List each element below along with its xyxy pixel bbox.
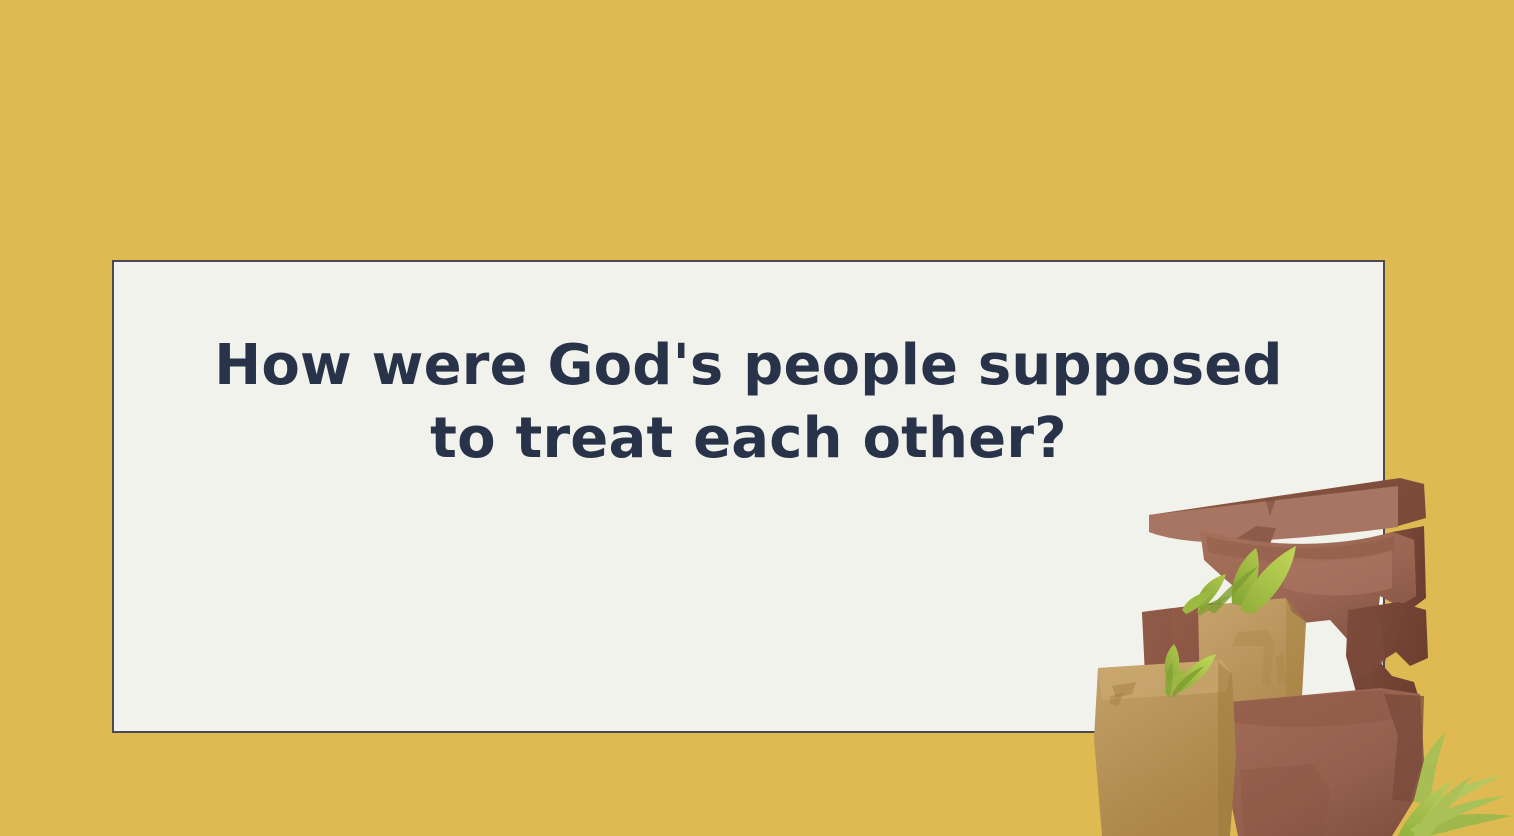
page-title: How were God's people supposed to treat … xyxy=(154,330,1343,476)
slide-canvas: How were God's people supposed to treat … xyxy=(0,0,1514,836)
title-block: How were God's people supposed to treat … xyxy=(114,330,1383,476)
grass-tuft-right xyxy=(1408,732,1512,836)
content-card: How were God's people supposed to treat … xyxy=(112,260,1385,733)
grass-tuft-front xyxy=(1398,780,1506,836)
